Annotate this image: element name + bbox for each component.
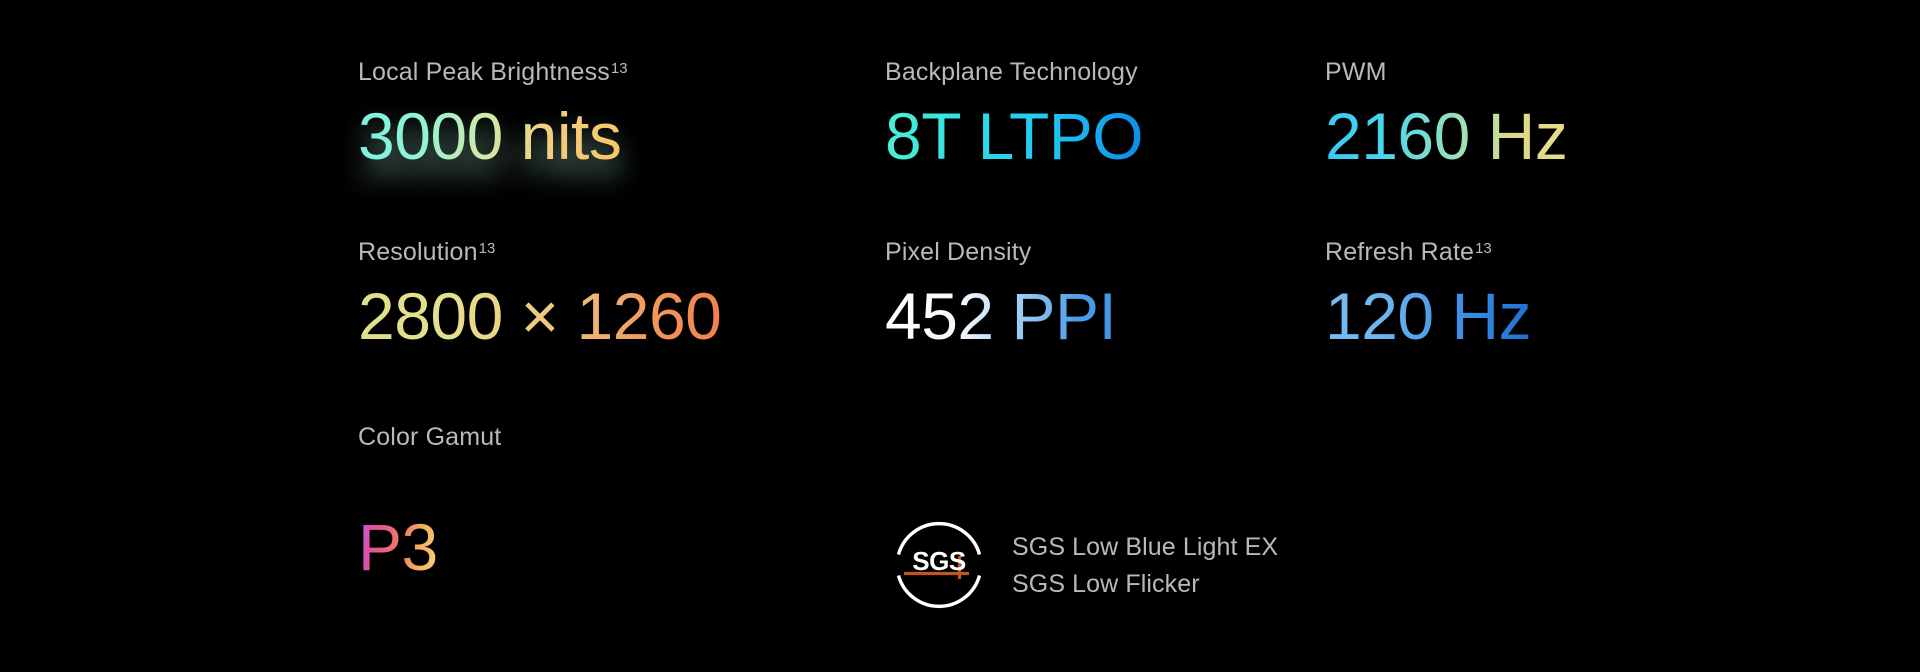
display-spec-sheet: Local Peak Brightness13 3000 nits 3000 n… bbox=[0, 0, 1920, 672]
spec-label-text: Resolution bbox=[358, 238, 478, 266]
spec-block-pwm: PWM 2160 Hz bbox=[1325, 60, 1678, 240]
spec-value-pwm: 2160 Hz bbox=[1325, 102, 1567, 172]
spec-label-text: Pixel Density bbox=[885, 238, 1031, 266]
sgs-certification-logo-icon: SGS bbox=[890, 516, 988, 614]
spec-label-local-peak-brightness: Local Peak Brightness13 bbox=[358, 60, 885, 85]
spec-label-text: Local Peak Brightness bbox=[358, 58, 610, 86]
spec-value-glow-wrapper: 3000 nits 3000 nits bbox=[358, 102, 621, 172]
spec-label-pixel-density: Pixel Density bbox=[885, 240, 1325, 265]
spec-block-color-gamut: Color Gamut P3 bbox=[358, 425, 885, 583]
spec-value-refresh-rate: 120 Hz bbox=[1325, 282, 1531, 352]
spec-label-text: Backplane Technology bbox=[885, 58, 1138, 86]
spec-block-pixel-density: Pixel Density 452 PPI bbox=[885, 240, 1325, 425]
spec-value-local-peak-brightness: 3000 nits bbox=[358, 102, 621, 172]
spec-label-text: Color Gamut bbox=[358, 423, 501, 451]
spec-label-superscript: 13 bbox=[611, 60, 628, 77]
spec-label-refresh-rate: Refresh Rate13 bbox=[1325, 240, 1678, 265]
spec-block-backplane-technology: Backplane Technology 8T LTPO bbox=[885, 60, 1325, 240]
spec-label-text: PWM bbox=[1325, 58, 1387, 86]
certification-text-group: SGS Low Blue Light EX SGS Low Flicker bbox=[1012, 533, 1278, 598]
spec-label-text: Refresh Rate bbox=[1325, 238, 1474, 266]
spec-label-backplane-technology: Backplane Technology bbox=[885, 60, 1325, 85]
certification-row: SGS SGS Low Blue Light EX SGS Low Flicke… bbox=[890, 516, 1278, 614]
spec-value-color-gamut: P3 bbox=[358, 513, 438, 583]
spec-block-local-peak-brightness: Local Peak Brightness13 3000 nits 3000 n… bbox=[358, 60, 885, 240]
spec-label-superscript: 13 bbox=[479, 240, 496, 257]
spec-label-pwm: PWM bbox=[1325, 60, 1678, 85]
spec-label-superscript: 13 bbox=[1475, 240, 1492, 257]
spec-value-pixel-density: 452 PPI bbox=[885, 282, 1116, 352]
svg-text:SGS: SGS bbox=[912, 546, 966, 576]
spec-grid: Local Peak Brightness13 3000 nits 3000 n… bbox=[358, 60, 1678, 583]
spec-label-resolution: Resolution13 bbox=[358, 240, 885, 265]
spec-label-color-gamut: Color Gamut bbox=[358, 425, 885, 450]
certification-line-low-flicker: SGS Low Flicker bbox=[1012, 570, 1278, 598]
spec-value-resolution: 2800 × 1260 bbox=[358, 282, 721, 352]
spec-value-backplane-technology: 8T LTPO bbox=[885, 102, 1143, 172]
certification-line-low-blue-light: SGS Low Blue Light EX bbox=[1012, 533, 1278, 561]
spec-block-refresh-rate: Refresh Rate13 120 Hz bbox=[1325, 240, 1678, 425]
spec-block-resolution: Resolution13 2800 × 1260 bbox=[358, 240, 885, 425]
